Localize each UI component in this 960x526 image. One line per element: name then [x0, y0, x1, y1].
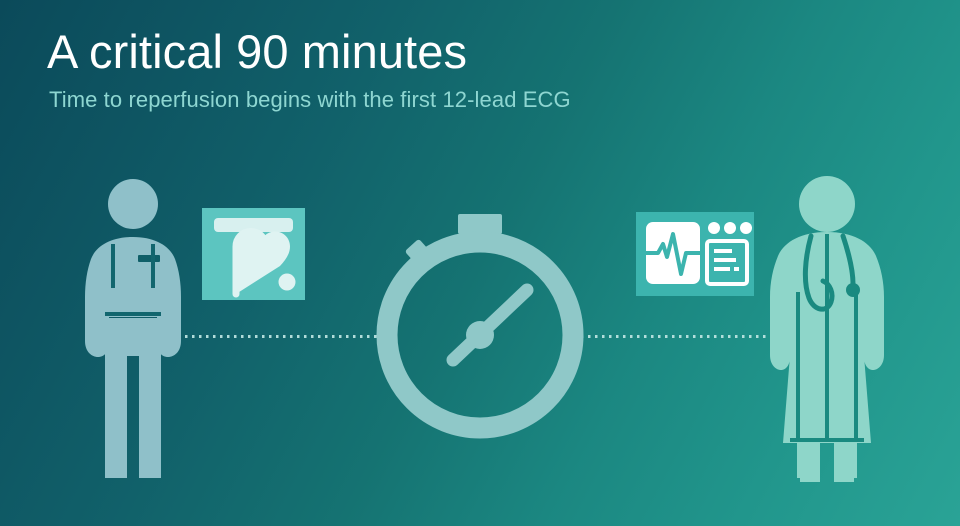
- illustration-scene: [0, 0, 960, 526]
- patient-head: [108, 179, 158, 229]
- monitor-chart-line-3: [714, 267, 730, 271]
- patient-chest-pocket: [138, 255, 160, 262]
- infographic-canvas: A critical 90 minutes Time to reperfusio…: [0, 0, 960, 526]
- stethoscope-chestpiece: [846, 283, 860, 297]
- monitor-indicator-dot-1: [708, 222, 720, 234]
- monitor-indicator-dot-3: [740, 222, 752, 234]
- monitor-chart-dot: [734, 267, 739, 271]
- doctor-right-leg: [834, 442, 854, 482]
- stopwatch-hand: [453, 290, 527, 360]
- monitor-chart-line-2: [714, 258, 736, 262]
- ecg-monitor-card: [636, 212, 754, 296]
- stopwatch-crown: [458, 214, 502, 234]
- doctor-left-leg: [800, 442, 820, 482]
- monitor-indicator-dot-2: [724, 222, 736, 234]
- heart-record-card: [202, 208, 305, 300]
- heart-card-status-dot: [279, 274, 296, 291]
- patient-shirt: [105, 286, 161, 314]
- monitor-chart-line-1: [714, 249, 732, 253]
- stopwatch: [387, 214, 573, 428]
- stopwatch-hub: [466, 321, 494, 349]
- doctor-head: [799, 176, 855, 232]
